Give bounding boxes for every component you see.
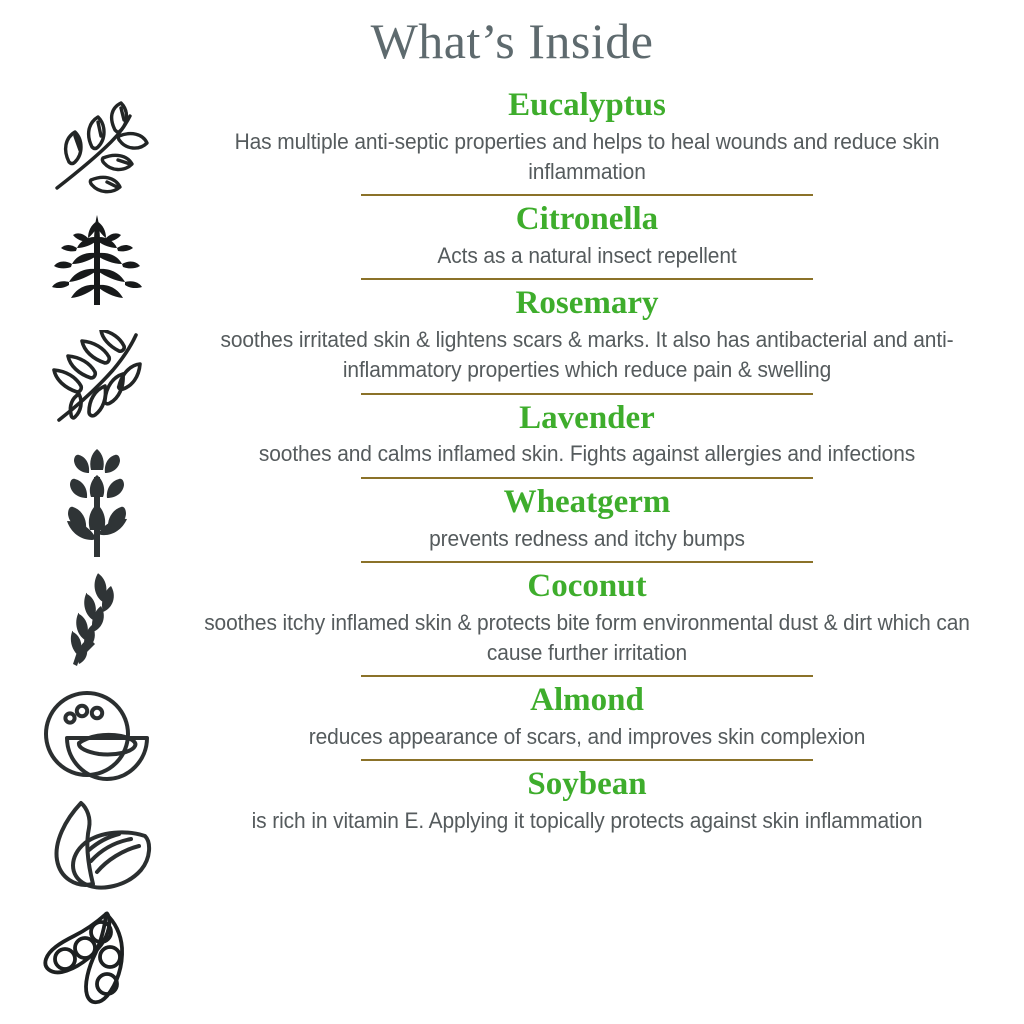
ingredient-description-almond: reduces appearance of scars, and improve… (187, 722, 987, 752)
ingredient-name-coconut: Coconut (150, 567, 1024, 606)
ingredient-description-coconut: soothes itchy inflamed skin & protects b… (187, 608, 987, 668)
page-title: What’s Inside (0, 14, 1024, 69)
ingredient-name-soybean: Soybean (150, 765, 1024, 804)
ingredient-description-lavender: soothes and calms inflamed skin. Fights … (187, 439, 987, 469)
ingredient-text-column: Eucalyptus Has multiple anti-septic prop… (150, 86, 1024, 836)
ingredient-name-almond: Almond (150, 681, 1024, 720)
ingredient-name-citronella: Citronella (150, 200, 1024, 239)
ingredient-name-eucalyptus: Eucalyptus (150, 86, 1024, 125)
section-divider (361, 194, 813, 196)
ingredient-name-lavender: Lavender (150, 399, 1024, 438)
ingredient-description-rosemary: soothes irritated skin & lightens scars … (187, 325, 987, 385)
ingredient-name-rosemary: Rosemary (150, 284, 1024, 323)
ingredient-section-coconut: Coconut soothes itchy inflamed skin & pr… (150, 567, 1024, 668)
ingredient-section-almond: Almond reduces appearance of scars, and … (150, 681, 1024, 752)
ingredient-description-wheatgerm: prevents redness and itchy bumps (187, 524, 987, 554)
section-divider (361, 278, 813, 280)
ingredients-infographic: What’s Inside (0, 0, 1024, 1024)
ingredient-section-wheatgerm: Wheatgerm prevents redness and itchy bum… (150, 483, 1024, 554)
ingredient-section-lavender: Lavender soothes and calms inflamed skin… (150, 399, 1024, 470)
section-divider (361, 393, 813, 395)
section-divider (361, 561, 813, 563)
ingredient-section-soybean: Soybean is rich in vitamin E. Applying i… (150, 765, 1024, 836)
ingredient-description-eucalyptus: Has multiple anti-septic properties and … (187, 127, 987, 187)
ingredient-name-wheatgerm: Wheatgerm (150, 483, 1024, 522)
soybean-pods-icon (22, 902, 172, 1008)
section-divider (361, 759, 813, 761)
section-divider (361, 477, 813, 479)
section-divider (361, 675, 813, 677)
ingredient-section-eucalyptus: Eucalyptus Has multiple anti-septic prop… (150, 86, 1024, 187)
ingredient-section-rosemary: Rosemary soothes irritated skin & lighte… (150, 284, 1024, 385)
ingredient-description-citronella: Acts as a natural insect repellent (187, 241, 987, 271)
ingredient-description-soybean: is rich in vitamin E. Applying it topica… (187, 806, 987, 836)
ingredient-section-citronella: Citronella Acts as a natural insect repe… (150, 200, 1024, 271)
